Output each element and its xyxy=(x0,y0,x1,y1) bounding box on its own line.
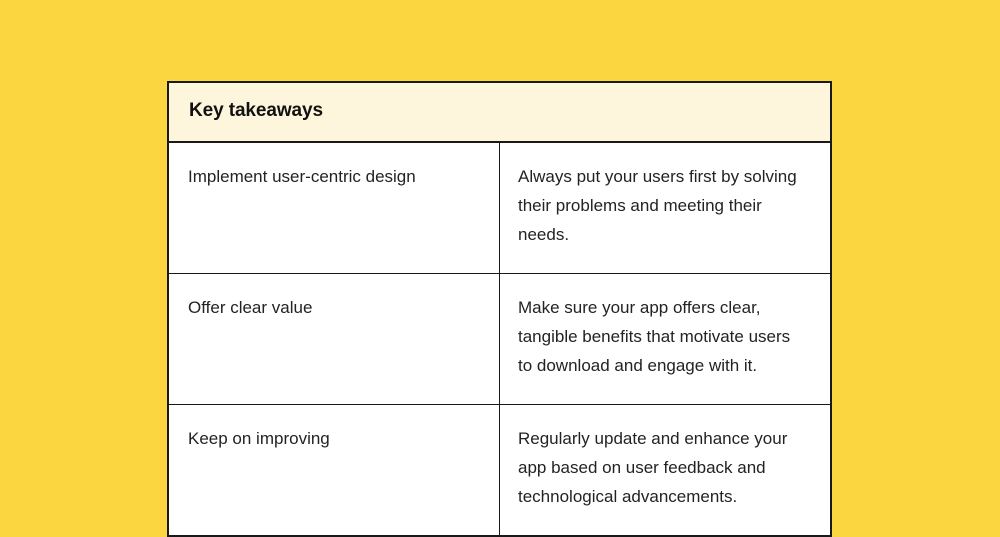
table-header-cell: Key takeaways xyxy=(168,82,831,142)
key-takeaways-table: Key takeaways Implement user-centric des… xyxy=(167,81,832,537)
table-header-row: Key takeaways xyxy=(168,82,831,142)
page-canvas: Key takeaways Implement user-centric des… xyxy=(0,0,1000,508)
takeaway-term-label: Implement user-centric design xyxy=(188,162,481,191)
takeaway-description-label: Regularly update and enhance your app ba… xyxy=(518,424,808,511)
page-title: Key takeaways xyxy=(189,100,323,121)
table-cell-term: Implement user-centric design xyxy=(168,142,500,274)
table-cell-term: Keep on improving xyxy=(168,404,500,536)
table-cell-description: Regularly update and enhance your app ba… xyxy=(500,404,832,536)
takeaway-term-label: Offer clear value xyxy=(188,293,481,322)
takeaway-description-label: Make sure your app offers clear, tangibl… xyxy=(518,293,808,380)
table-cell-description: Make sure your app offers clear, tangibl… xyxy=(500,273,832,404)
table-row: Implement user-centric design Always put… xyxy=(168,142,831,274)
table-row: Keep on improving Regularly update and e… xyxy=(168,404,831,536)
table-cell-term: Offer clear value xyxy=(168,273,500,404)
takeaway-description-label: Always put your users first by solving t… xyxy=(518,162,808,249)
table-cell-description: Always put your users first by solving t… xyxy=(500,142,832,274)
takeaway-term-label: Keep on improving xyxy=(188,424,481,453)
table-row: Offer clear value Make sure your app off… xyxy=(168,273,831,404)
